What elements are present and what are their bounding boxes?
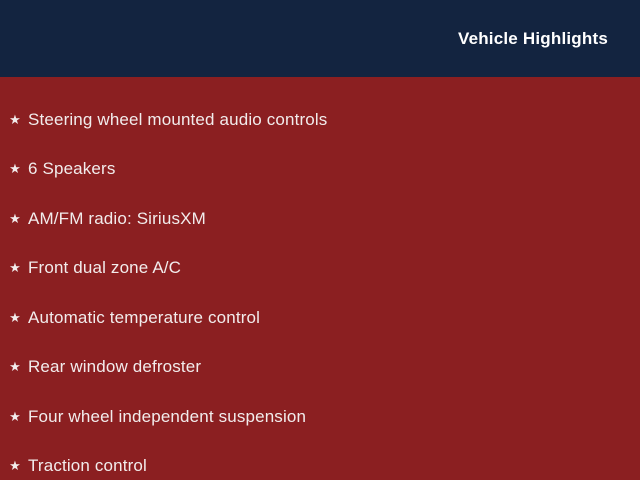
vehicle-highlights-slide: Vehicle Highlights ★ Steering wheel moun… [0, 0, 640, 480]
feature-label: Front dual zone A/C [28, 257, 181, 279]
feature-label: Four wheel independent suspension [28, 406, 306, 428]
vehicle-features-list: ★ Steering wheel mounted audio controls … [0, 77, 640, 480]
list-item: ★ Traction control [0, 442, 640, 480]
feature-label: Steering wheel mounted audio controls [28, 109, 327, 131]
list-item: ★ Steering wheel mounted audio controls [0, 95, 640, 145]
feature-label: Rear window defroster [28, 356, 201, 378]
star-bullet-icon: ★ [8, 410, 22, 424]
page-title: Vehicle Highlights [458, 29, 608, 49]
list-item: ★ Four wheel independent suspension [0, 392, 640, 442]
feature-label: Traction control [28, 455, 147, 477]
star-bullet-icon: ★ [8, 360, 22, 374]
list-item: ★ Automatic temperature control [0, 293, 640, 343]
star-bullet-icon: ★ [8, 162, 22, 176]
star-bullet-icon: ★ [8, 311, 22, 325]
star-bullet-icon: ★ [8, 459, 22, 473]
header-bar: Vehicle Highlights [0, 0, 640, 77]
list-item: ★ 6 Speakers [0, 145, 640, 195]
list-item: ★ AM/FM radio: SiriusXM [0, 194, 640, 244]
features-panel: ★ Steering wheel mounted audio controls … [0, 77, 640, 480]
feature-label: AM/FM radio: SiriusXM [28, 208, 206, 230]
feature-label: 6 Speakers [28, 158, 116, 180]
star-bullet-icon: ★ [8, 113, 22, 127]
list-item: ★ Front dual zone A/C [0, 244, 640, 294]
star-bullet-icon: ★ [8, 212, 22, 226]
list-item: ★ Rear window defroster [0, 343, 640, 393]
star-bullet-icon: ★ [8, 261, 22, 275]
feature-label: Automatic temperature control [28, 307, 260, 329]
